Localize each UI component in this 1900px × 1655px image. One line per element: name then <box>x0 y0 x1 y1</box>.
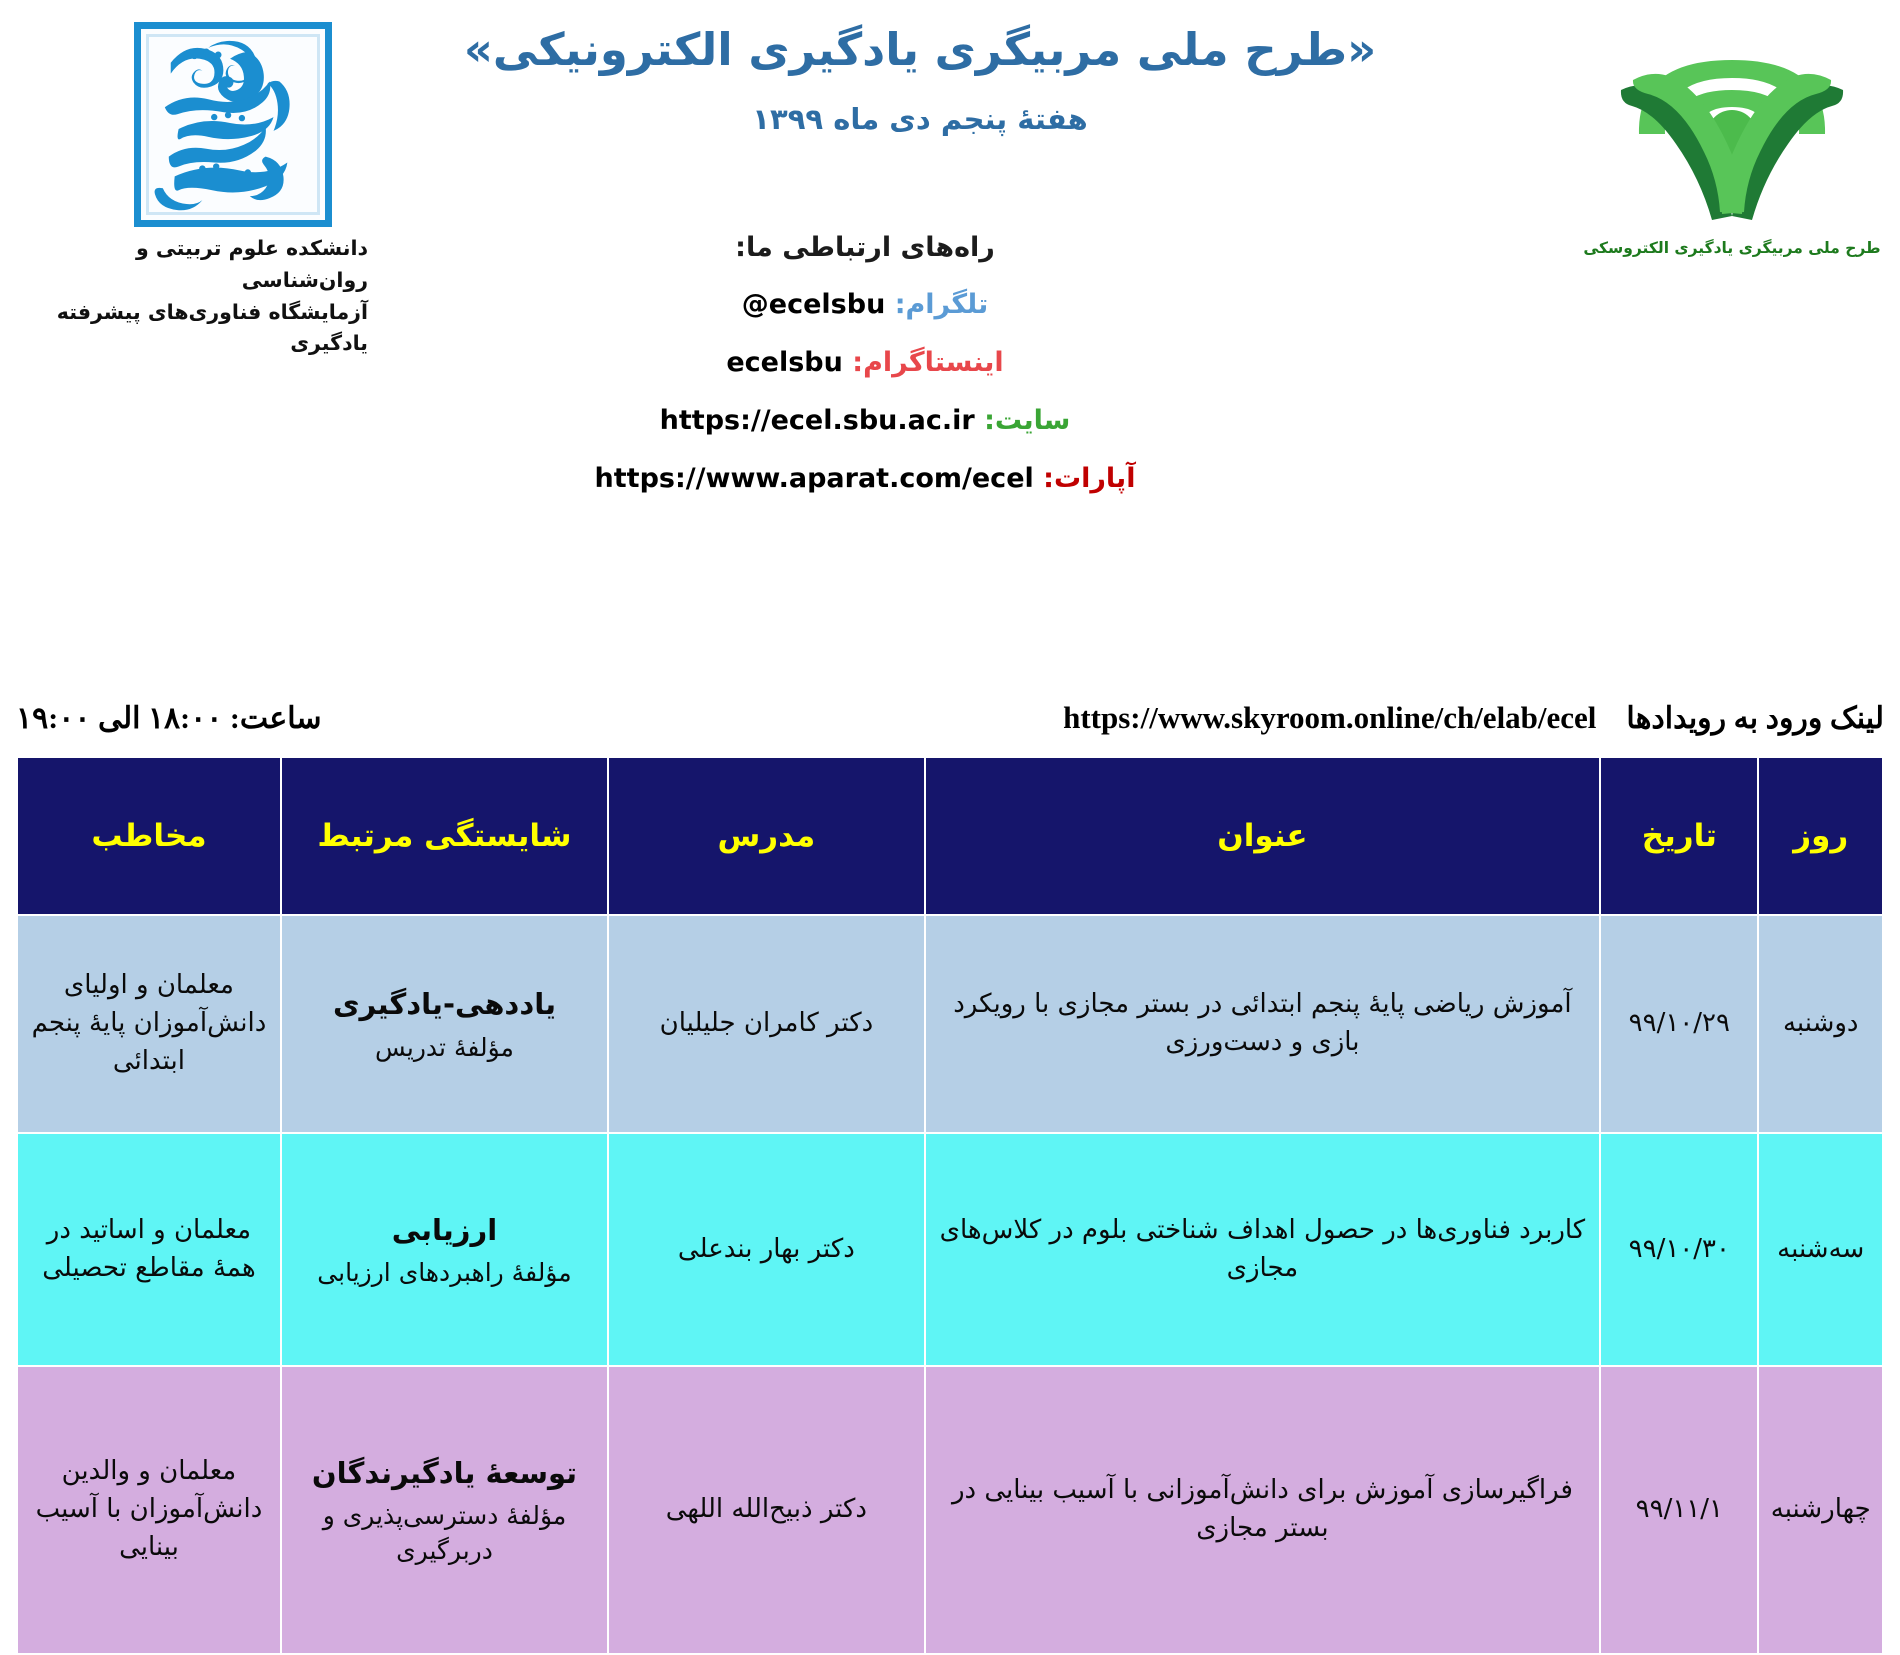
cell-audience: معلمان و والدین دانش‌آموزان با آسیب بینا… <box>17 1366 281 1654</box>
sbu-logo-icon <box>134 22 332 227</box>
event-time: ساعت: ۱۸:۰۰ الی ۱۹:۰۰ <box>16 701 322 736</box>
cell-audience: معلمان و اولیای دانش‌آموزان پایۀ پنجم اب… <box>17 915 281 1133</box>
contact-item-instagram: اینستاگرام: ecelsbu <box>0 347 1900 378</box>
competency-main: توسعۀ یادگیرندگان <box>288 1452 601 1494</box>
cell-date: ۹۹/۱۰/۲۹ <box>1600 915 1758 1133</box>
cell-instructor: دکتر بهار بندعلی <box>608 1133 925 1366</box>
table-row: دوشنبه ۹۹/۱۰/۲۹ آموزش ریاضی پایۀ پنجم اب… <box>17 915 1883 1133</box>
column-header-title: عنوان <box>925 757 1600 915</box>
cell-title: فراگیرسازی آموزش برای دانش‌آموزانی با آس… <box>925 1366 1600 1654</box>
contact-label-telegram: تلگرام <box>906 289 989 320</box>
contact-block: راه‌های ارتباطی ما: تلگرام: @ecelsbu این… <box>0 232 1900 521</box>
cell-competency: یاددهی-یادگیری مؤلفۀ تدریس <box>281 915 608 1133</box>
contact-colon-aparat: : <box>1043 463 1054 494</box>
schedule-table: روز تاریخ عنوان مدرس شایستگی مرتبط مخاطب… <box>16 756 1884 1655</box>
event-link-url[interactable]: https://www.skyroom.online/ch/elab/ecel <box>633 700 1596 736</box>
cell-instructor: دکتر کامران جلیلیان <box>608 915 925 1133</box>
contact-value-instagram[interactable]: ecelsbu <box>726 347 843 378</box>
contact-value-telegram[interactable]: @ecelsbu <box>742 289 886 320</box>
contact-label-instagram: اینستاگرام <box>863 347 1004 378</box>
cell-day: دوشنبه <box>1758 915 1883 1133</box>
cell-day: چهارشنبه <box>1758 1366 1883 1654</box>
contact-colon-instagram: : <box>852 347 863 378</box>
contact-item-aparat: آپارات: https://www.aparat.com/ecel <box>0 463 1900 494</box>
competency-sub: مؤلفۀ تدریس <box>288 1030 601 1065</box>
cell-competency: ارزیابی مؤلفۀ راهبردهای ارزیابی <box>281 1133 608 1366</box>
competency-main: یاددهی-یادگیری <box>288 983 601 1025</box>
column-header-audience: مخاطب <box>17 757 281 915</box>
competency-main: ارزیابی <box>288 1209 601 1251</box>
column-header-date: تاریخ <box>1600 757 1758 915</box>
contact-label-aparat: آپارات <box>1054 463 1135 494</box>
competency-sub: مؤلفۀ دسترسی‌پذیری و دربرگیری <box>288 1498 601 1568</box>
cell-instructor: دکتر ذبیح‌الله اللهی <box>608 1366 925 1654</box>
program-branding: طرح ملی مربیگری یادگیری الکتروسکی <box>1582 8 1882 257</box>
contact-heading: راه‌های ارتباطی ما: <box>0 232 1900 263</box>
contact-colon-telegram: : <box>895 289 906 320</box>
event-link-label: لینک ورود به رویدادها <box>1626 701 1884 736</box>
contact-item-website: سایت: https://ecel.sbu.ac.ir <box>0 405 1900 436</box>
cell-date: ۹۹/۱۰/۳۰ <box>1600 1133 1758 1366</box>
column-header-competency: شایستگی مرتبط <box>281 757 608 915</box>
table-row: چهارشنبه ۹۹/۱۱/۱ فراگیرسازی آموزش برای د… <box>17 1366 1883 1654</box>
cell-title: کاربرد فناوری‌ها در حصول اهداف شناختی بل… <box>925 1133 1600 1366</box>
cell-day: سه‌شنبه <box>1758 1133 1883 1366</box>
contact-item-telegram: تلگرام: @ecelsbu <box>0 289 1900 320</box>
cell-competency: توسعۀ یادگیرندگان مؤلفۀ دسترسی‌پذیری و د… <box>281 1366 608 1654</box>
column-header-instructor: مدرس <box>608 757 925 915</box>
contact-colon-website: : <box>984 405 995 436</box>
column-header-day: روز <box>1758 757 1883 915</box>
contact-value-aparat[interactable]: https://www.aparat.com/ecel <box>595 463 1034 494</box>
ecel-logo-icon <box>1603 8 1861 233</box>
sbu-logo-inner <box>146 34 320 215</box>
table-row: سه‌شنبه ۹۹/۱۰/۳۰ کاربرد فناوری‌ها در حصو… <box>17 1133 1883 1366</box>
schedule-table-wrapper: روز تاریخ عنوان مدرس شایستگی مرتبط مخاطب… <box>16 756 1884 1655</box>
cell-audience: معلمان و اساتید در همۀ مقاطع تحصیلی <box>17 1133 281 1366</box>
contact-value-website[interactable]: https://ecel.sbu.ac.ir <box>660 405 975 436</box>
competency-sub: مؤلفۀ راهبردهای ارزیابی <box>288 1255 601 1290</box>
contact-label-website: سایت <box>995 405 1070 436</box>
event-link-bar: لینک ورود به رویدادها https://www.skyroo… <box>0 690 1900 746</box>
cell-date: ۹۹/۱۱/۱ <box>1600 1366 1758 1654</box>
cell-title: آموزش ریاضی پایۀ پنجم ابتدائی در بستر مج… <box>925 915 1600 1133</box>
table-header-row: روز تاریخ عنوان مدرس شایستگی مرتبط مخاطب <box>17 757 1883 915</box>
